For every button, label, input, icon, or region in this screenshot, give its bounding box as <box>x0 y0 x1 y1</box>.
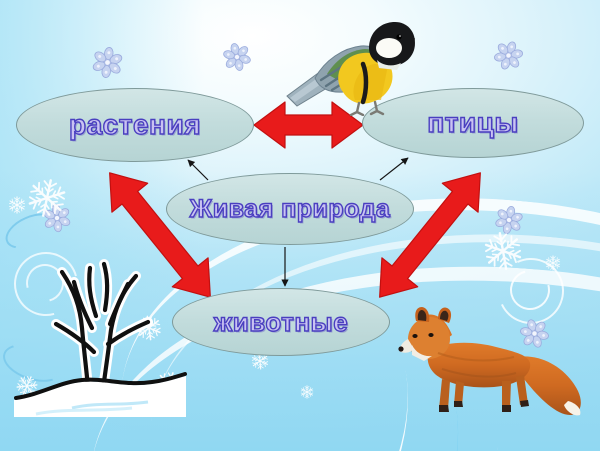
node-plants-label: растения <box>69 109 201 141</box>
node-plants[interactable]: растения <box>16 88 254 162</box>
node-living-nature-label: Живая природа <box>190 195 391 224</box>
node-animals-label: животные <box>214 307 348 338</box>
node-living-nature[interactable]: Живая природа <box>166 173 414 245</box>
node-animals[interactable]: животные <box>172 288 390 356</box>
slide-canvas: растения птицы Живая природа животные <box>0 0 600 451</box>
winter-tree-illustration <box>12 232 187 417</box>
great-tit-bird-illustration <box>285 8 415 116</box>
red-fox-illustration <box>398 305 588 425</box>
node-birds-label: птицы <box>427 107 518 139</box>
